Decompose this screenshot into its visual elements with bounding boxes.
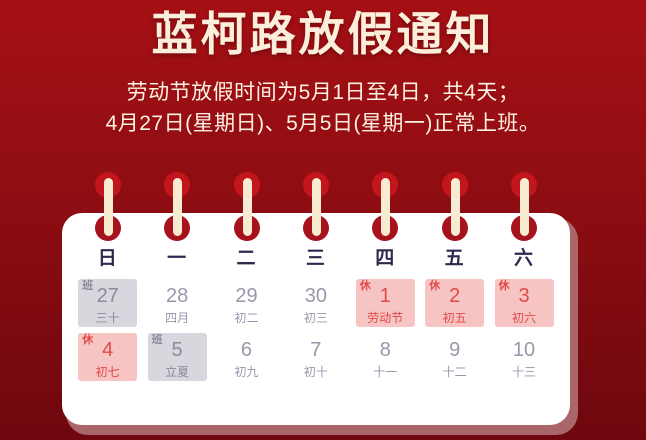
day-lunar-label: 十二	[443, 366, 467, 378]
calendar-cell-slot: 班5立夏	[142, 330, 211, 384]
calendar-day-cell[interactable]: 6初九	[217, 333, 276, 381]
calendar-cell-slot: 6初九	[212, 330, 281, 384]
day-lunar-label: 初十	[304, 366, 328, 378]
calendar-day-cell[interactable]: 休4初七	[78, 333, 137, 381]
binder-ring	[506, 172, 542, 242]
day-number: 28	[166, 286, 188, 306]
calendar-cell-slot: 8十一	[351, 330, 420, 384]
calendar-day-cell[interactable]: 30初三	[286, 279, 345, 327]
subtitle-line-2: 4月27日(星期日)、5月5日(星期一)正常上班。	[0, 108, 646, 140]
day-lunar-label: 十一	[373, 366, 397, 378]
day-number: 27	[97, 286, 119, 306]
binder-ring	[159, 172, 195, 242]
weekday-header-row: 日一二三四五六	[73, 243, 559, 276]
day-status-badge: 班	[82, 281, 93, 292]
day-number: 7	[310, 340, 321, 360]
weekday-header-4: 四	[351, 243, 420, 276]
calendar-week-row: 休4初七班5立夏6初九7初十8十一9十二10十三	[73, 330, 559, 384]
calendar-week-row: 班27三十28四月29初二30初三休1劳动节休2初五休3初六	[73, 276, 559, 330]
calendar-card: 日一二三四五六 班27三十28四月29初二30初三休1劳动节休2初五休3初六休4…	[62, 213, 578, 435]
day-number: 29	[235, 286, 257, 306]
day-lunar-label: 初二	[234, 312, 258, 324]
notice-subtitle: 劳动节放假时间为5月1日至4日，共4天； 4月27日(星期日)、5月5日(星期一…	[0, 77, 646, 140]
day-number: 5	[172, 340, 183, 360]
calendar-cell-slot: 7初十	[281, 330, 350, 384]
weekday-header-6: 六	[489, 243, 558, 276]
day-lunar-label: 初三	[304, 312, 328, 324]
weekday-header-5: 五	[420, 243, 489, 276]
calendar-day-cell[interactable]: 9十二	[425, 333, 484, 381]
page-title: 蓝柯路放假通知	[0, 6, 646, 64]
day-number: 9	[449, 340, 460, 360]
calendar-cell-slot: 30初三	[281, 276, 350, 330]
day-status-badge: 休	[360, 281, 371, 292]
day-status-badge: 休	[499, 281, 510, 292]
calendar-day-cell[interactable]: 休1劳动节	[356, 279, 415, 327]
weekday-header-1: 一	[142, 243, 211, 276]
binder-ring	[298, 172, 334, 242]
calendar-day-cell[interactable]: 10十三	[495, 333, 554, 381]
day-lunar-label: 四月	[165, 312, 189, 324]
calendar-cell-slot: 28四月	[142, 276, 211, 330]
day-lunar-label: 初七	[96, 366, 120, 378]
day-number: 3	[518, 286, 529, 306]
calendar-cell-slot: 10十三	[489, 330, 558, 384]
calendar-cell-slot: 休2初五	[420, 276, 489, 330]
calendar-cell-slot: 9十二	[420, 330, 489, 384]
day-lunar-label: 十三	[512, 366, 536, 378]
subtitle-line-1: 劳动节放假时间为5月1日至4日，共4天；	[0, 77, 646, 109]
day-lunar-label: 三十	[96, 312, 120, 324]
day-number: 6	[241, 340, 252, 360]
calendar-cell-slot: 班27三十	[73, 276, 142, 330]
ring-bar-front-icon	[104, 212, 113, 236]
day-number: 2	[449, 286, 460, 306]
date-rows: 班27三十28四月29初二30初三休1劳动节休2初五休3初六休4初七班5立夏6初…	[73, 276, 559, 384]
day-status-badge: 休	[429, 281, 440, 292]
day-number: 30	[305, 286, 327, 306]
notice-header: 蓝柯路放假通知 劳动节放假时间为5月1日至4日，共4天； 4月27日(星期日)、…	[0, 0, 646, 140]
binder-ring	[90, 172, 126, 242]
calendar-cell-slot: 休4初七	[73, 330, 142, 384]
ring-bar-front-icon	[312, 212, 321, 236]
calendar-day-cell[interactable]: 班27三十	[78, 279, 137, 327]
calendar-cell-slot: 休3初六	[489, 276, 558, 330]
ring-bar-front-icon	[381, 212, 390, 236]
day-number: 1	[380, 286, 391, 306]
calendar-day-cell[interactable]: 休3初六	[495, 279, 554, 327]
ring-bar-front-icon	[451, 212, 460, 236]
binder-ring	[367, 172, 403, 242]
calendar-cell-slot: 休1劳动节	[351, 276, 420, 330]
day-lunar-label: 初九	[234, 366, 258, 378]
ring-bar-front-icon	[243, 212, 252, 236]
day-status-badge: 休	[82, 335, 93, 346]
calendar-day-cell[interactable]: 班5立夏	[148, 333, 207, 381]
calendar-day-cell[interactable]: 休2初五	[425, 279, 484, 327]
ring-bar-front-icon	[173, 212, 182, 236]
calendar-cell-slot: 29初二	[212, 276, 281, 330]
weekday-header-3: 三	[281, 243, 350, 276]
day-lunar-label: 初六	[512, 312, 536, 324]
card-surface: 日一二三四五六 班27三十28四月29初二30初三休1劳动节休2初五休3初六休4…	[62, 213, 570, 425]
binder-ring	[229, 172, 265, 242]
binder-ring	[437, 172, 473, 242]
ring-bar-front-icon	[520, 212, 529, 236]
calendar-day-cell[interactable]: 28四月	[148, 279, 207, 327]
day-number: 8	[380, 340, 391, 360]
day-number: 4	[102, 340, 113, 360]
binder-rings	[62, 172, 578, 242]
weekday-header-2: 二	[212, 243, 281, 276]
day-lunar-label: 立夏	[165, 366, 189, 378]
day-lunar-label: 初五	[443, 312, 467, 324]
weekday-header-0: 日	[73, 243, 142, 276]
calendar-day-cell[interactable]: 8十一	[356, 333, 415, 381]
day-lunar-label: 劳动节	[367, 312, 403, 324]
day-status-badge: 班	[152, 335, 163, 346]
calendar-day-cell[interactable]: 29初二	[217, 279, 276, 327]
calendar-day-cell[interactable]: 7初十	[286, 333, 345, 381]
day-number: 10	[513, 340, 535, 360]
